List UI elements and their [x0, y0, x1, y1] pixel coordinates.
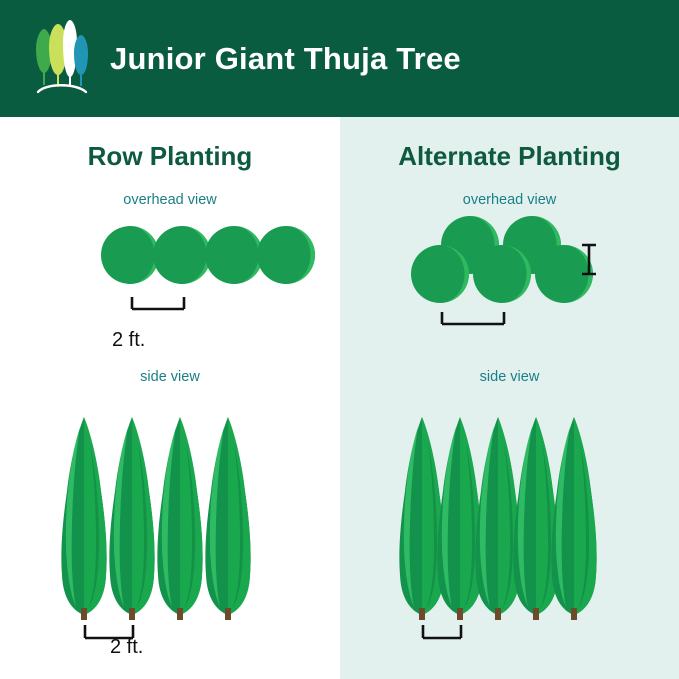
panel-title-row-planting: Row Planting	[0, 141, 340, 172]
side-tree	[437, 417, 482, 620]
side-diagram-row-planting	[0, 389, 340, 649]
infographic-page: Junior Giant Thuja Tree Row Planting ove…	[0, 0, 679, 679]
four-trees-logo-icon	[22, 19, 94, 99]
side-view-label-right: side view	[340, 369, 679, 385]
canopy-group-row	[101, 226, 315, 284]
page-header: Junior Giant Thuja Tree	[0, 0, 679, 117]
side-tree	[513, 417, 558, 620]
dimension-bracket-overhead-left	[132, 297, 184, 309]
canopy-group-front-row	[411, 245, 593, 303]
dimension-bracket-overhead-right	[442, 312, 504, 324]
dimension-label-overhead-left: 2 ft.	[112, 329, 145, 352]
side-diagram-alternate-planting	[340, 389, 679, 649]
side-tree	[109, 417, 154, 620]
overhead-diagram-alternate-planting	[340, 212, 679, 342]
side-tree	[399, 417, 444, 620]
canopy-circle	[205, 226, 263, 284]
overhead-view-label-right: overhead view	[340, 192, 679, 208]
canopy-circle	[101, 226, 159, 284]
side-tree	[205, 417, 250, 620]
side-tree	[157, 417, 202, 620]
side-tree	[551, 417, 596, 620]
overhead-diagram-row-planting	[0, 212, 340, 342]
panel-row-planting: Row Planting overhead view	[0, 117, 340, 679]
panel-title-alternate-planting: Alternate Planting	[340, 141, 679, 172]
side-tree	[61, 417, 106, 620]
canopy-circle	[257, 226, 315, 284]
page-title: Junior Giant Thuja Tree	[110, 41, 461, 77]
side-view-label-left: side view	[0, 369, 340, 385]
canopy-circle	[411, 245, 469, 303]
tree-group-alternate	[399, 417, 596, 620]
overhead-view-label-left: overhead view	[0, 192, 340, 208]
dimension-bracket-side-right	[423, 625, 461, 638]
dimension-label-side-left: 2 ft.	[110, 636, 143, 659]
tree-group-row	[61, 417, 250, 620]
side-tree	[475, 417, 520, 620]
panel-alternate-planting: Alternate Planting overhead view	[340, 117, 679, 679]
canopy-circle	[473, 245, 531, 303]
canopy-circle	[153, 226, 211, 284]
